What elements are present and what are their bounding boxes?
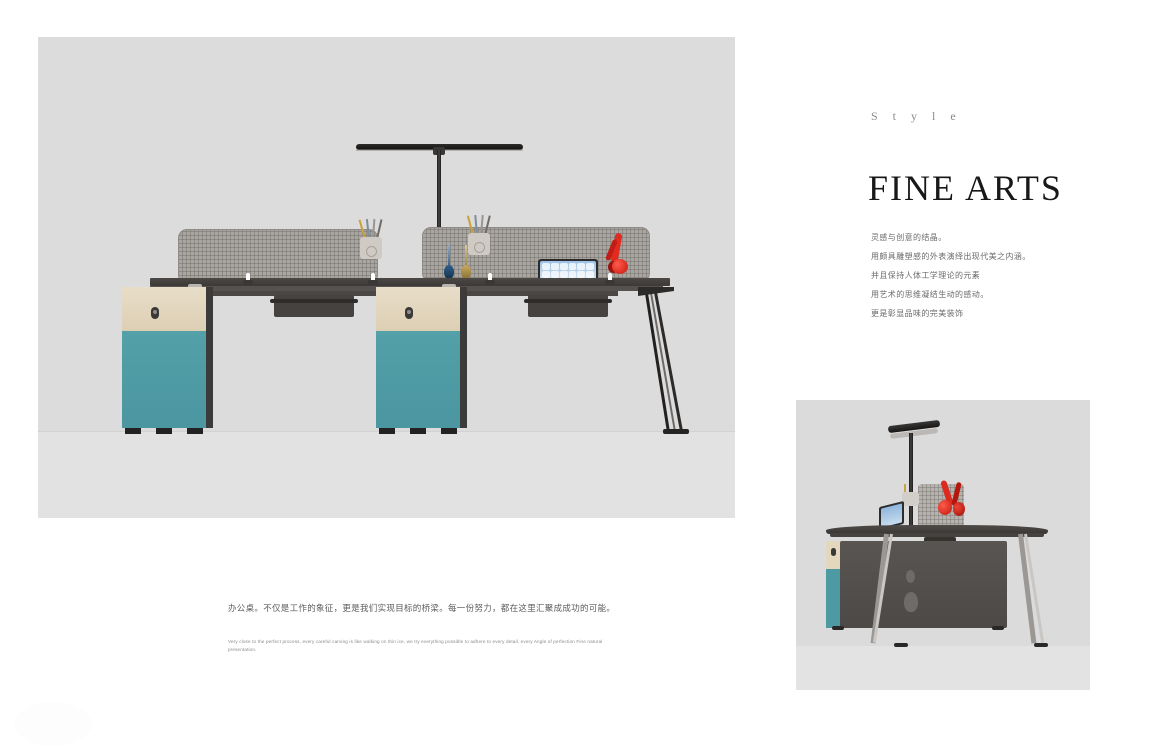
cabinet-lock [831, 548, 836, 556]
screen-clip [368, 273, 378, 285]
splayed-desk-leg [638, 287, 698, 432]
cabinet-teal-body [122, 331, 206, 428]
decor-vase-gold [461, 247, 471, 279]
pen-cup [360, 237, 382, 259]
corner-decoration [14, 702, 92, 746]
poster-page: S t y l e FINE ARTS 灵感与创意的结晶。 用颇具雕塑感的外表演… [0, 0, 1152, 749]
screen-clip [485, 273, 495, 285]
caption-english: Very close to the perfect process, every… [228, 638, 628, 654]
modesty-panel [840, 541, 1007, 628]
cabinet-lock [405, 307, 413, 319]
cable-tray-lip [524, 299, 612, 303]
pens [468, 213, 490, 235]
description-line: 用颇具雕塑感的外表演绎出现代美之内涵。 [871, 252, 1061, 262]
cable-tray-lip [270, 299, 358, 303]
hero-product-image [38, 37, 735, 518]
pens [360, 217, 382, 239]
pen-cup [468, 233, 490, 255]
desk-lamp-base [902, 492, 919, 506]
description-line: 灵感与创意的结晶。 [871, 233, 1061, 243]
desk-worksurface [150, 278, 670, 286]
screen-clip [605, 273, 615, 285]
pedestal-cabinet [376, 287, 460, 428]
cabinet-wood-top [122, 287, 206, 331]
cabinet-side-panel [460, 287, 467, 428]
cabinet-lock [151, 307, 159, 319]
desk-lamp-pole [909, 433, 913, 528]
pedestal-cabinet [122, 287, 206, 428]
decor-vase-blue [444, 251, 454, 279]
panel-pull [904, 592, 918, 612]
red-headphones [936, 480, 966, 522]
cabinet-foot [992, 626, 1004, 630]
cabinet-foot [832, 626, 844, 630]
secondary-floor [796, 646, 1090, 690]
hero-floor [38, 432, 735, 518]
screen-clip [243, 273, 253, 285]
cabinet-wood-top [376, 287, 460, 331]
red-headphones [608, 233, 630, 277]
cabinet-plinth [125, 428, 203, 434]
style-kicker: S t y l e [871, 109, 962, 124]
description-line: 更是彰显品味的完美装饰 [871, 309, 1061, 319]
cabinet-teal-body [376, 331, 460, 428]
leg-foot [1034, 643, 1048, 647]
cabinet-side-panel [206, 287, 213, 428]
page-title: FINE ARTS [868, 167, 1063, 209]
description-line: 用艺术的思维凝结生动的感动。 [871, 290, 1061, 300]
leg-foot [894, 643, 908, 647]
cabinet-plinth [379, 428, 457, 434]
panel-knob [906, 570, 915, 583]
mesh-privacy-screen [178, 229, 378, 284]
caption-chinese: 办公桌。不仅是工作的象征，更是我们实现目标的桥梁。每一份努力，都在这里汇聚成成功… [228, 602, 615, 614]
description-line: 并且保持人体工学理论的元素 [871, 271, 1061, 281]
description-paragraph: 灵感与创意的结晶。 用颇具雕塑感的外表演绎出现代美之内涵。 并且保持人体工学理论… [871, 233, 1061, 328]
secondary-product-image [796, 400, 1090, 690]
